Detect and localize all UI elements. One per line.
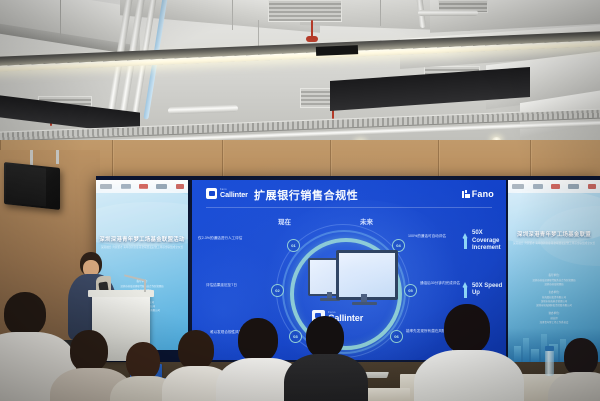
bullet-now-2: 评估结果延迟至T日	[206, 283, 272, 288]
credit-line: 深圳市前海管理局	[508, 283, 600, 287]
audience-head	[178, 330, 214, 370]
slide-title: 扩展银行销售合规性	[254, 187, 358, 203]
right-banner-title: 深圳深港青年梦工场基金联盟	[508, 230, 600, 238]
bottle-cap	[545, 346, 554, 351]
speaker-mount-bracket	[56, 150, 59, 164]
left-banner-subtitle: 深港融合·湾区聚才 青年创新创业基金联盟发起暨工场基金联盟成立仪式	[96, 245, 188, 249]
arrow-up-icon	[462, 282, 468, 298]
header-divider	[206, 207, 492, 208]
presentation-room-photo: 深圳深港青年梦工场基金联盟活动 深港融合·湾区聚才 青年创新创业基金联盟发起暨工…	[0, 0, 600, 401]
fano-mark-icon	[462, 190, 470, 198]
light-junction-box	[316, 45, 358, 56]
node-03[interactable]: 03	[289, 330, 302, 343]
audience-head	[306, 316, 344, 358]
bullet-now-1: 仅2-3%的通话进行人工评估	[198, 236, 282, 241]
water-bottle	[545, 350, 554, 376]
node-01[interactable]: 01	[287, 239, 300, 252]
sponsor-logo	[100, 184, 112, 189]
node-05[interactable]: 05	[404, 284, 417, 297]
callinter-mark-icon	[206, 188, 217, 199]
audience-head	[70, 330, 108, 372]
left-banner-title: 深圳深港青年梦工场基金联盟活动	[96, 235, 188, 243]
node-06[interactable]: 06	[390, 330, 403, 343]
sponsor-logo	[551, 184, 560, 189]
right-event-banner-screen: 深圳深港青年梦工场基金联盟 深港融合·湾区聚才 青年创新创业基金联盟发起暨工场基…	[508, 180, 600, 362]
audience-shoulders	[414, 350, 524, 401]
metric-coverage-text: 50X Coverage Increment	[472, 230, 506, 253]
pipe	[168, 105, 238, 114]
arrow-up-icon	[462, 233, 468, 249]
hanger-rod	[380, 0, 381, 26]
sponsor-logo	[512, 184, 524, 189]
monitor-screen	[336, 250, 398, 300]
vent-grille	[268, 0, 342, 22]
speaker-mount-bracket	[30, 150, 33, 166]
callinter-logo: Fano Callinter	[206, 188, 248, 199]
hanger-rod	[60, 0, 61, 36]
era-label-now: 现在	[278, 216, 291, 226]
sponsor-logo	[176, 184, 184, 189]
sponsor-logo	[533, 184, 543, 189]
ceiling	[0, 0, 600, 152]
gooseneck-mic-stem	[144, 280, 146, 292]
sponsor-logo	[588, 184, 596, 189]
metric-coverage-value: 50X Coverage	[472, 230, 499, 244]
right-banner-credits: 指导单位: 深圳市前海深港现代服务业合作区管理局 深圳市前海管理局 主办单位: …	[508, 274, 600, 325]
fano-logo: Fano	[462, 189, 494, 199]
metric-coverage-unit: Increment	[472, 245, 501, 251]
bullet-future-1: 100%的通话可自动评估	[408, 234, 468, 239]
hanger-rod	[232, 0, 233, 30]
sponsor-logo	[568, 184, 579, 189]
metric-coverage: 50X Coverage Increment	[462, 230, 506, 253]
audience-head	[444, 304, 490, 354]
audience-head	[564, 338, 598, 376]
monitor-base	[352, 302, 377, 305]
metric-speed: 50X Speed Up	[462, 282, 506, 298]
audience-shoulders	[284, 354, 368, 401]
building	[531, 349, 539, 362]
building	[514, 346, 521, 362]
fano-wordmark: Fano	[472, 189, 494, 199]
audience-head	[238, 318, 278, 362]
node-02[interactable]: 02	[271, 284, 284, 297]
building	[523, 338, 529, 362]
pipe	[418, 10, 478, 16]
callinter-logo-name: Callinter	[220, 191, 248, 198]
era-label-future: 未来	[360, 216, 373, 226]
credit-line: 深圳市前海国际投资控股有限公司	[508, 304, 600, 308]
right-banner-subtitle: 深港融合·湾区聚才 青年创新创业基金联盟发起暨工场基金联盟成立仪式	[508, 241, 600, 245]
credit-line: 深港青年梦工场工作委员会	[508, 321, 600, 325]
sprinkler-head	[306, 36, 318, 42]
audience-head	[126, 342, 160, 380]
audience-head	[4, 292, 46, 336]
metric-speed-value: 50X Speed Up	[472, 283, 506, 298]
speaker-grille	[6, 164, 46, 206]
callinter-wordmark: Fano Callinter	[220, 189, 248, 199]
loudspeaker	[4, 162, 60, 210]
